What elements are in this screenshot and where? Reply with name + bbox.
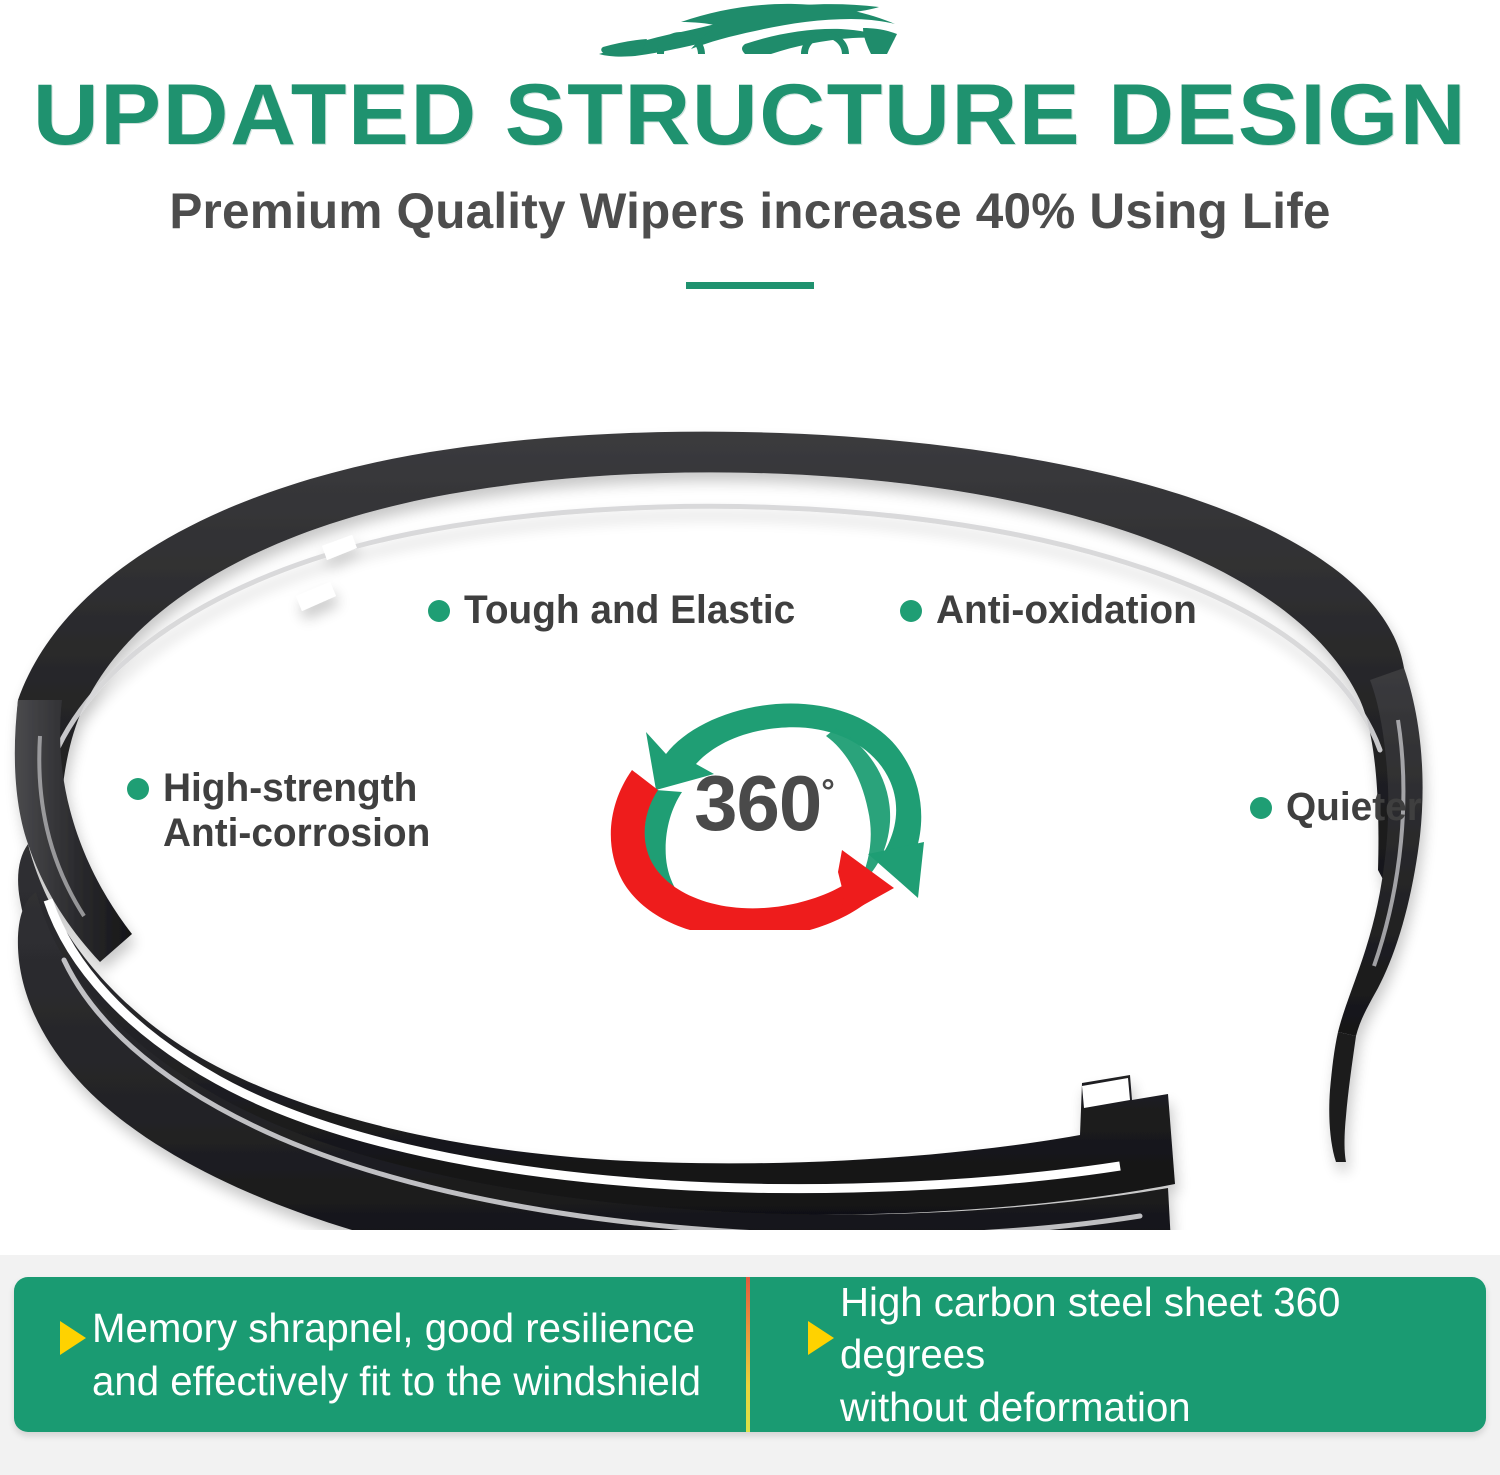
header: UPDATED STRUCTURE DESIGN Premium Quality… xyxy=(0,0,1500,289)
feature-label-line2: Anti-corrosion xyxy=(163,811,430,855)
right-tip xyxy=(1329,1032,1356,1162)
page-subtitle: Premium Quality Wipers increase 40% Usin… xyxy=(8,182,1493,240)
feature-label: Quieter xyxy=(1286,785,1422,830)
upper-strip-notch-b xyxy=(322,535,357,560)
title-divider xyxy=(686,282,814,289)
banner-left-half: Memory shrapnel, good resilience and eff… xyxy=(14,1277,750,1432)
360-degree-badge: 360° xyxy=(578,692,958,930)
banner-left-line2: and effectively fit to the windshield xyxy=(92,1355,701,1407)
triangle-bullet-icon xyxy=(60,1321,86,1355)
banner-right-half: High carbon steel sheet 360 degrees with… xyxy=(750,1277,1486,1432)
page-title: UPDATED STRUCTURE DESIGN xyxy=(0,72,1500,158)
360-rotation-icon xyxy=(578,692,958,930)
banner-left-line1: Memory shrapnel, good resilience xyxy=(92,1305,695,1351)
feature-label: Anti-oxidation xyxy=(936,588,1197,633)
feature-high-strength-anti-corrosion: High-strength Anti-corrosion xyxy=(127,766,439,856)
bullet-dot-icon xyxy=(900,600,922,622)
car-logo xyxy=(0,0,1500,62)
bullet-dot-icon xyxy=(428,600,450,622)
banner-right-line1: High carbon steel sheet 360 degrees xyxy=(840,1279,1340,1377)
bottom-banner: Memory shrapnel, good resilience and eff… xyxy=(14,1277,1486,1432)
feature-quieter: Quieter xyxy=(1250,785,1426,830)
banner-right-text: High carbon steel sheet 360 degrees with… xyxy=(840,1277,1473,1432)
car-silhouette-icon xyxy=(595,2,905,62)
bullet-dot-icon xyxy=(1250,797,1272,819)
banner-right-line2: without deformation xyxy=(840,1381,1473,1432)
feature-label: Tough and Elastic xyxy=(464,588,795,633)
banner-left-text: Memory shrapnel, good resilience and eff… xyxy=(92,1302,701,1407)
feature-tough-and-elastic: Tough and Elastic xyxy=(428,588,806,633)
bottom-banner-zone: Memory shrapnel, good resilience and eff… xyxy=(0,1255,1500,1475)
feature-anti-oxidation: Anti-oxidation xyxy=(900,588,1205,633)
feature-label-line1: High-strength xyxy=(163,766,417,810)
feature-label: High-strength Anti-corrosion xyxy=(163,766,430,856)
upper-strip-notch-a xyxy=(296,582,336,611)
infographic-page: UPDATED STRUCTURE DESIGN Premium Quality… xyxy=(0,0,1500,1475)
bullet-dot-icon xyxy=(127,778,149,800)
triangle-bullet-icon xyxy=(808,1321,834,1355)
